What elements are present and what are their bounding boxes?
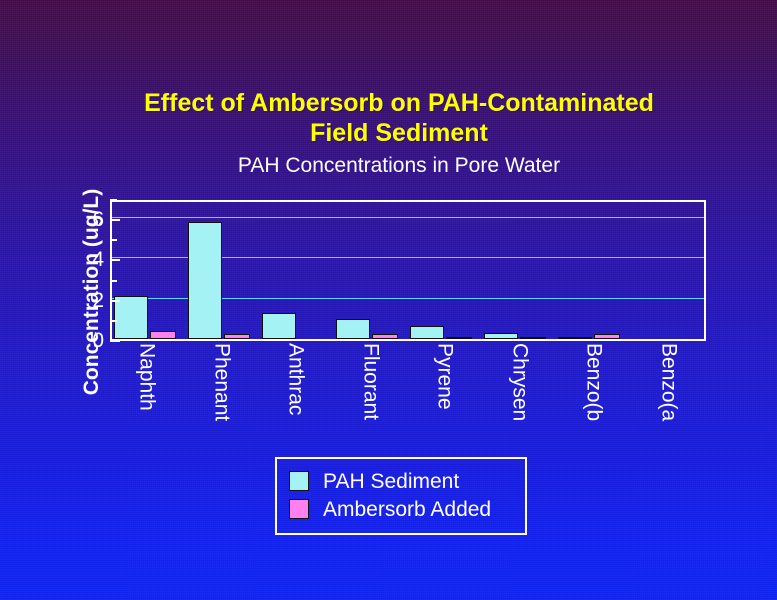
x-axis-tick-label: Anthrac <box>286 343 307 415</box>
y-axis-tick-label: 4 <box>64 249 104 270</box>
x-axis-tick-label: Benzo(a <box>658 343 679 421</box>
x-axis-label-cell: Phenant <box>185 343 260 448</box>
y-axis-tick-mark <box>110 340 120 342</box>
y-axis-tick-label: 0 <box>64 330 104 351</box>
bar-ambersorb <box>520 337 546 339</box>
x-axis-label-cell: Benzo(b <box>557 343 632 448</box>
x-axis-label-cell: Benzo(a <box>632 343 707 448</box>
bar-group-benzo-a <box>630 202 704 339</box>
legend-item: Ambersorb Added <box>289 495 513 523</box>
x-axis-label-cell: Naphth <box>110 343 185 448</box>
y-axis-tick-labels: 0246 <box>62 200 104 341</box>
y-axis-minor-tick-mark <box>110 199 117 201</box>
y-axis-tick-label: 6 <box>64 209 104 230</box>
y-axis-tick-mark <box>110 300 120 302</box>
x-axis-label-cell: Anthrac <box>259 343 334 448</box>
legend-swatch-sediment-icon <box>289 471 309 491</box>
x-axis-tick-label: Fluorant <box>360 343 381 420</box>
x-axis-label-cell: Pyrene <box>408 343 483 448</box>
x-axis-label-cell: Fluorant <box>334 343 409 448</box>
x-axis-tick-label: Benzo(b <box>584 343 605 421</box>
bar-group-phenant <box>186 202 260 339</box>
chart-subtitle: PAH Concentrations in Pore Water <box>86 154 712 178</box>
legend-label-ambersorb: Ambersorb Added <box>323 499 491 520</box>
legend-item: PAH Sediment <box>289 467 513 495</box>
bar-group-fluorant <box>334 202 408 339</box>
bar-group-chrysen <box>482 202 556 339</box>
bar-ambersorb <box>446 337 472 339</box>
bar-ambersorb <box>224 334 250 339</box>
bar-sediment <box>262 313 296 339</box>
x-axis-label-cell: Chrysen <box>483 343 558 448</box>
bar-group-benzo-b <box>556 202 630 339</box>
y-axis-minor-tick-mark <box>110 239 117 241</box>
bar-ambersorb <box>150 331 176 339</box>
bar-ambersorb <box>372 334 398 339</box>
y-axis-minor-tick-mark <box>110 320 117 322</box>
chart-title: Effect of Ambersorb on PAH-Contaminated … <box>86 88 712 148</box>
bar-ambersorb <box>594 334 620 339</box>
x-axis-tick-label: Pyrene <box>435 343 456 410</box>
slide-canvas: Effect of Ambersorb on PAH-Contaminated … <box>0 0 777 600</box>
x-axis-tick-labels: NaphthPhenantAnthracFluorantPyreneChryse… <box>110 343 706 448</box>
bar-sediment <box>188 222 222 339</box>
bar-group-naphth <box>112 202 186 339</box>
y-axis-tick-mark <box>110 259 120 261</box>
x-axis-tick-label: Phenant <box>211 343 232 421</box>
bar-group-pyrene <box>408 202 482 339</box>
y-axis-tick-mark <box>110 219 120 221</box>
y-axis-tick-label: 2 <box>64 290 104 311</box>
bar-sediment <box>558 337 592 339</box>
legend-label-sediment: PAH Sediment <box>323 471 459 492</box>
bar-group-anthrac <box>260 202 334 339</box>
bar-sediment <box>114 296 148 339</box>
legend-swatch-ambersorb-icon <box>289 499 309 519</box>
x-axis-tick-label: Chrysen <box>509 343 530 421</box>
chart-title-block: Effect of Ambersorb on PAH-Contaminated … <box>86 88 712 178</box>
bar-sediment <box>410 326 444 339</box>
bar-group <box>112 202 704 339</box>
x-axis-tick-label: Naphth <box>137 343 158 411</box>
chart-legend: PAH Sediment Ambersorb Added <box>275 457 527 535</box>
plot-area <box>110 200 706 341</box>
bar-sediment <box>336 319 370 339</box>
bar-sediment <box>484 333 518 339</box>
y-axis-minor-tick-mark <box>110 280 117 282</box>
